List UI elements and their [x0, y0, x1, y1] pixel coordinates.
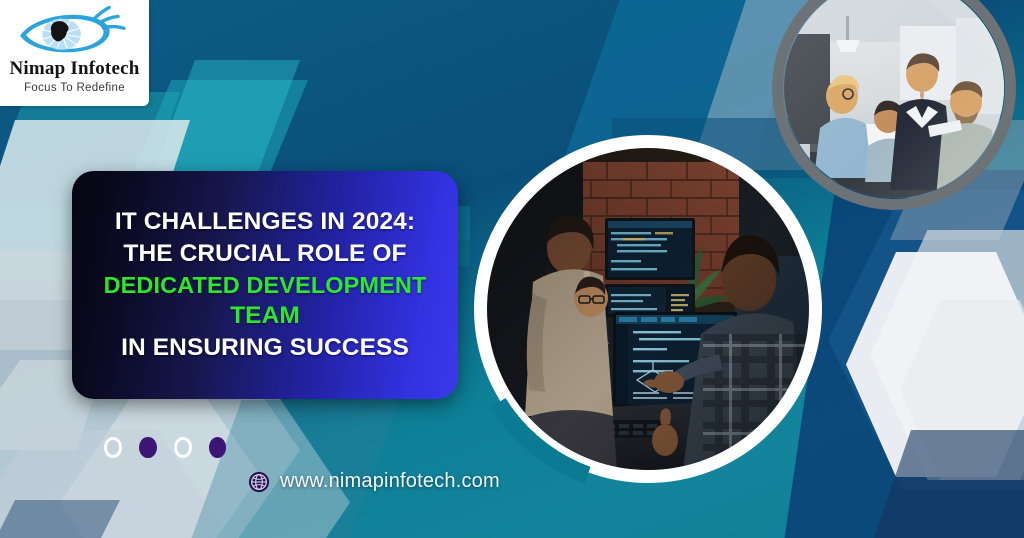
carousel-dots[interactable] — [104, 435, 226, 459]
headline-line-1: IT CHALLENGES IN 2024: — [115, 206, 415, 238]
headline-line-4: TEAM — [230, 300, 300, 332]
brand-logo[interactable]: Nimap Infotech Focus To Redefine — [0, 0, 149, 106]
headline-line-5: IN ENSURING SUCCESS — [121, 332, 409, 364]
bg-block-right-navy — [780, 170, 1024, 538]
bg-diagonal-left-3 — [150, 60, 300, 180]
carousel-dot-2[interactable] — [139, 437, 156, 458]
bg-hexagon-bottom-left-2 — [60, 395, 350, 538]
bg-block-bottom-right — [856, 430, 1024, 538]
bg-hexagon-right-b — [846, 252, 1024, 477]
website-url: www.nimapinfotech.com — [280, 470, 500, 493]
website-link[interactable]: www.nimapinfotech.com — [248, 470, 500, 493]
brand-tagline: Focus To Redefine — [24, 82, 125, 94]
headline-line-3: DEDICATED DEVELOPMENT — [104, 270, 427, 301]
bg-hexagon-right-a — [870, 230, 1024, 480]
brand-name: Nimap Infotech — [10, 59, 140, 78]
developers-at-workstations-photo — [487, 148, 809, 470]
eye-icon — [15, 6, 135, 58]
carousel-dot-3[interactable] — [174, 437, 192, 458]
headline-line-2: THE CRUCIAL ROLE OF — [123, 238, 406, 270]
bg-hexagon-right-blue — [828, 190, 1024, 490]
bg-hexagon-right-c — [900, 300, 1024, 480]
globe-icon — [248, 471, 270, 493]
headline-card: IT CHALLENGES IN 2024: THE CRUCIAL ROLE … — [72, 171, 458, 399]
carousel-dot-4[interactable] — [209, 437, 226, 458]
carousel-dot-1[interactable] — [104, 437, 122, 458]
promo-banner: Nimap Infotech Focus To Redefine IT CHAL… — [0, 0, 1024, 538]
bg-diagonal-bottom-left-navy — [0, 500, 120, 538]
bg-diagonal-mid-left — [180, 400, 400, 538]
